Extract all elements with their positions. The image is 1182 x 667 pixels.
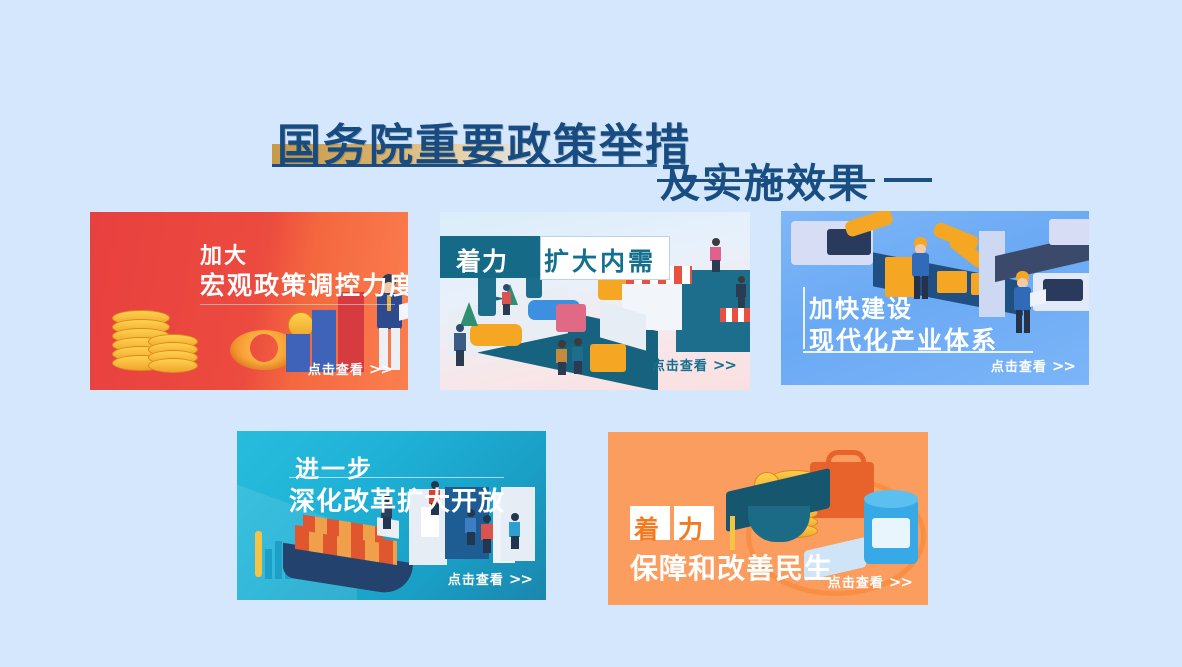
heading-left-rule: [803, 287, 805, 349]
bar-chart-bar-1: [286, 334, 310, 372]
card-cta-label: 点击查看: [652, 359, 708, 374]
pedestrian-1: [454, 324, 466, 366]
card-modern-industry[interactable]: 加快建设 现代化产业体系 点击查看>>: [781, 211, 1089, 385]
pedestrian-3: [556, 340, 568, 374]
chevron-right-icon: >>: [509, 570, 532, 588]
chevron-right-icon: >>: [713, 356, 736, 374]
card-expand-demand[interactable]: 着力 扩大内需 点击查看>>: [440, 212, 750, 390]
card-cta-label: 点击查看: [828, 576, 884, 591]
tree-icon-1: [460, 302, 478, 326]
pedestrian-2: [502, 284, 512, 314]
visitor-4: [481, 515, 494, 553]
machine-right-screen-2: [1049, 219, 1089, 245]
visitor-5: [509, 513, 521, 549]
card-heading-line1: 进一步: [295, 449, 373, 484]
heading-underline: [200, 304, 395, 305]
card-cta-label: 点击查看: [991, 360, 1047, 375]
medicine-bottle-cap: [864, 490, 918, 508]
briefcase-handle: [826, 450, 866, 471]
worker-1: [911, 237, 931, 299]
page-title-line1: 国务院重要政策举措: [277, 109, 691, 173]
card-heading-line1: 着力: [456, 242, 508, 278]
charging-pile-1-icon: [478, 274, 496, 316]
card-cta-label: 点击查看: [448, 573, 504, 588]
card-heading-line2: 现代化产业体系: [809, 321, 998, 357]
medicine-bottle-label: [872, 518, 910, 548]
graduation-cap-tassel: [730, 516, 735, 550]
page-title-block: 国务院重要政策举措 及实施效果: [0, 52, 1182, 162]
card-heading-line1-b: 力: [678, 510, 703, 546]
card-heading-line2: 保障和改善民生: [630, 547, 833, 587]
card-heading-line2: 宏观政策调控力度: [200, 266, 408, 302]
carton-3-icon: [937, 271, 967, 293]
card-macro-policy[interactable]: 加大 宏观政策调控力度 点击查看>>: [90, 212, 408, 390]
card-deepen-reform[interactable]: 进一步 深化改革扩大开放 点击查看>>: [237, 431, 546, 600]
pedestrian-6: [736, 276, 747, 308]
chevron-right-icon: >>: [889, 573, 912, 591]
card-cta-label: 点击查看: [308, 363, 364, 378]
card-cta-link[interactable]: 点击查看>>: [828, 572, 912, 591]
package-stack-icon: [556, 304, 586, 332]
title-end-dash: [884, 178, 932, 182]
chevron-right-icon: >>: [1052, 357, 1075, 375]
card-cta-link[interactable]: 点击查看>>: [448, 569, 532, 588]
machine-right-screen: [1043, 279, 1083, 301]
card-heading-line1: 加快建设: [809, 289, 913, 324]
car-yellow-icon: [470, 324, 522, 346]
accent-bar-yellow: [255, 531, 262, 577]
card-cta-link[interactable]: 点击查看>>: [991, 356, 1075, 375]
chevron-right-icon: >>: [369, 360, 392, 378]
card-cta-link[interactable]: 点击查看>>: [308, 359, 392, 378]
worker-2: [1013, 271, 1033, 333]
pedestrian-4: [572, 338, 584, 374]
card-heading-line2: 深化改革扩大开放: [289, 481, 505, 518]
card-improve-livelihood[interactable]: 着 力 保障和改善民生 点击查看>>: [608, 432, 928, 605]
card-heading-line2: 扩大内需: [544, 242, 656, 278]
card-heading-line1-a: 着: [634, 510, 659, 546]
page-title-line2: 及实施效果: [660, 151, 870, 209]
pedestrian-5: [710, 238, 722, 272]
kiosk-awning-icon: [720, 308, 750, 322]
accent-bar-2: [275, 541, 282, 579]
gift-box-icon: [590, 344, 626, 372]
card-cta-link[interactable]: 点击查看>>: [652, 355, 736, 374]
accent-bar-1: [265, 549, 272, 579]
